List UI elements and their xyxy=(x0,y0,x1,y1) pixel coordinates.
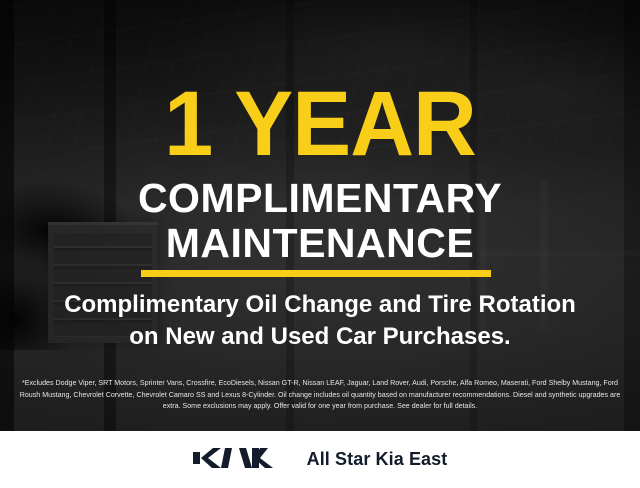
yellow-divider-rule xyxy=(141,270,491,277)
subheadline-line-2: MAINTENANCE xyxy=(0,221,640,266)
promotional-ad: 1 YEAR COMPLIMENTARY MAINTENANCE Complim… xyxy=(0,0,640,488)
kia-logo-icon xyxy=(193,444,285,475)
headline: 1 YEAR xyxy=(13,78,627,170)
disclaimer-text: *Excludes Dodge Viper, SRT Motors, Sprin… xyxy=(14,378,626,413)
dealer-name: All Star Kia East xyxy=(307,449,448,470)
offer-text: Complimentary Oil Change and Tire Rotati… xyxy=(0,289,640,353)
offer-line-2: on New and Used Car Purchases. xyxy=(0,321,640,353)
ad-copy: 1 YEAR COMPLIMENTARY MAINTENANCE Complim… xyxy=(0,0,640,488)
subheadline-line-1: COMPLIMENTARY xyxy=(138,175,502,221)
offer-line-1: Complimentary Oil Change and Tire Rotati… xyxy=(64,291,576,318)
footer-bar: All Star Kia East xyxy=(0,431,640,488)
subheadline: COMPLIMENTARY MAINTENANCE xyxy=(0,176,640,266)
